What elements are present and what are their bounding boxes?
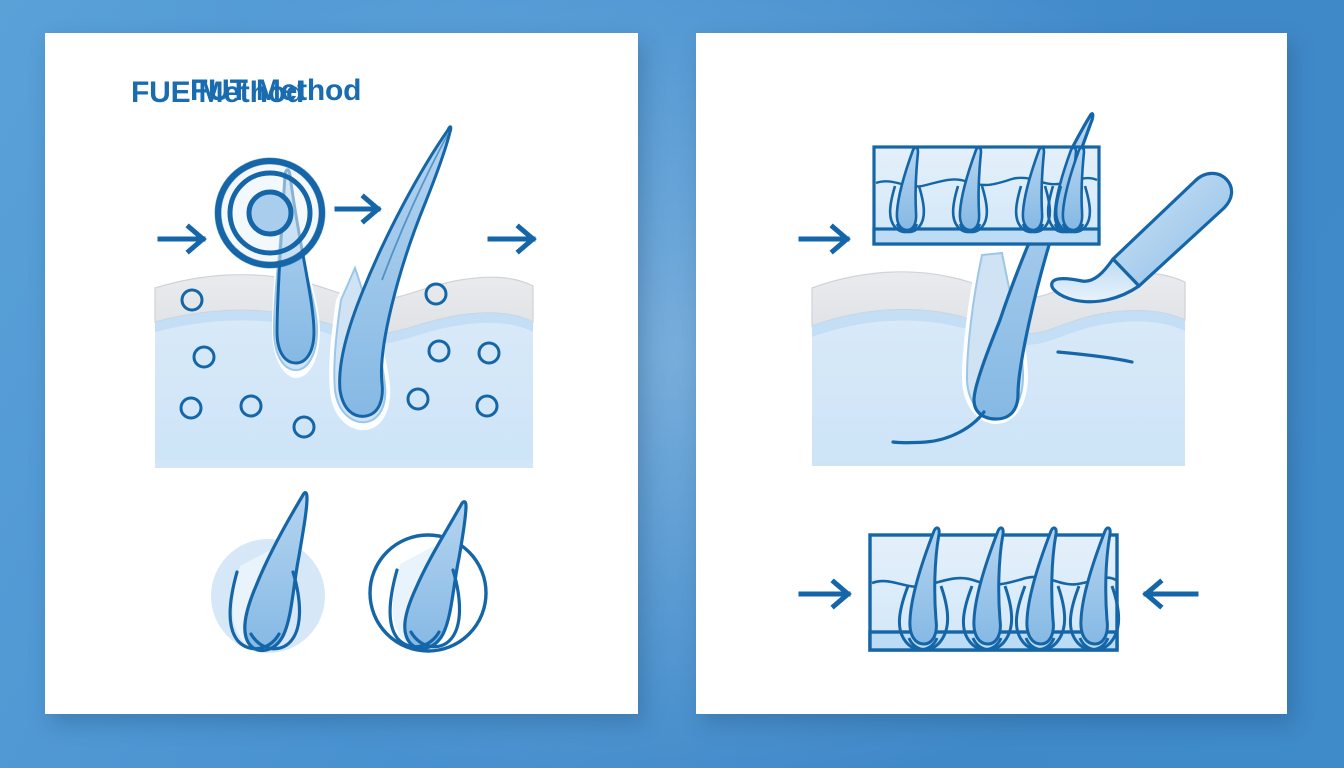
panel-fut-title: FUT Method: [190, 74, 361, 108]
fut-donor-strip: [874, 147, 1099, 244]
fut-bottom-arrow-left: [801, 582, 848, 606]
fue-graft-units: [211, 493, 486, 653]
fue-arrow-1: [160, 227, 203, 251]
fut-arrow-strip: [801, 227, 847, 251]
fue-arrow-3: [490, 227, 533, 251]
graft-outlined-circle: [370, 502, 486, 651]
fut-bottom-arrow-right: [1146, 582, 1196, 606]
graft-filled-disc: [211, 493, 325, 653]
skin-base-band: [155, 460, 533, 468]
scalpel-handle: [1113, 173, 1232, 286]
illustration-artwork: [0, 0, 1344, 768]
illustration-canvas: FUE Method FUT Method: [0, 0, 1344, 768]
fue-extraction-scene: [155, 127, 533, 468]
fut-excision-scene: [801, 114, 1232, 466]
fut-graft-strip: [801, 528, 1196, 650]
punch-tool: [218, 161, 322, 265]
fue-arrow-2: [337, 197, 378, 221]
